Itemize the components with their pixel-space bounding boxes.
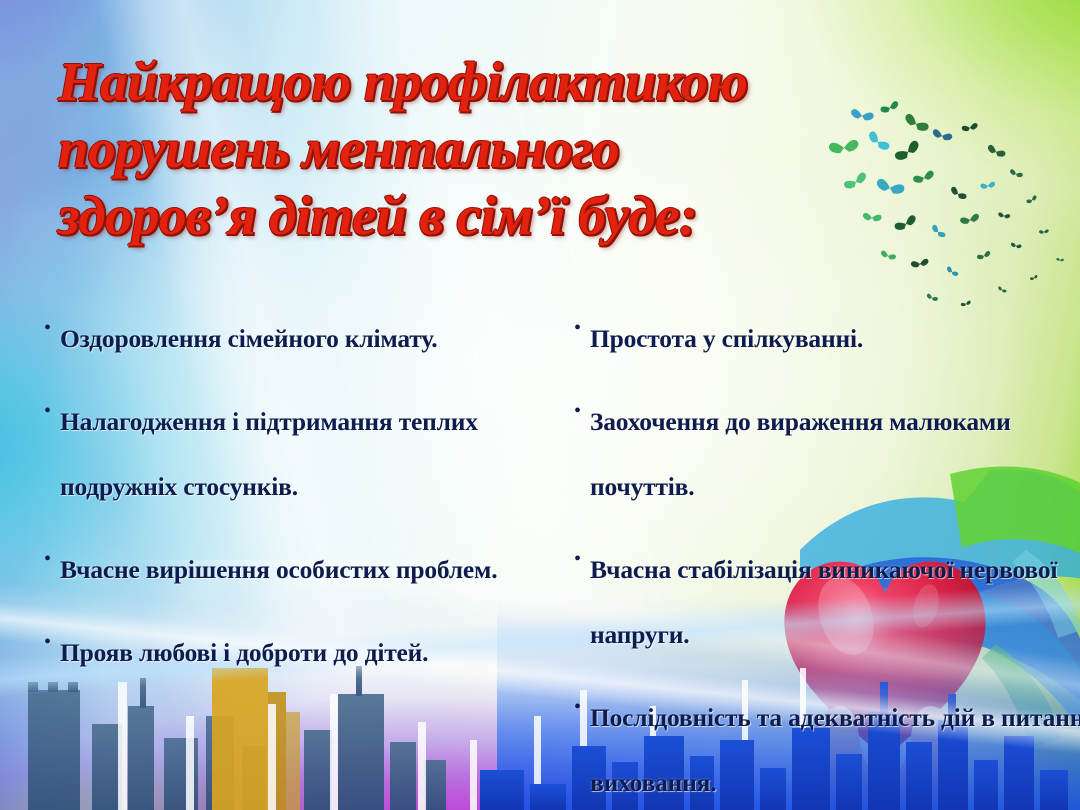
list-item-label: Оздоровлення сімейного клімату. <box>60 306 564 371</box>
list-item: • Заохочення до вираження малюками почут… <box>574 389 1080 519</box>
bullet-dot-icon: • <box>574 697 590 717</box>
bullet-dot-icon: • <box>574 549 590 569</box>
bullet-column-left: • Оздоровлення сімейного клімату. • Нала… <box>0 306 564 810</box>
list-item-label: Налагодження і підтримання теплих подруж… <box>60 389 564 519</box>
list-item-label: Послідовність та адекватність дій в пита… <box>590 685 1080 810</box>
list-item: • Послідовність та адекватність дій в пи… <box>574 685 1080 810</box>
poster-title: Найкращою профілактикою порушень менталь… <box>58 48 958 249</box>
list-item-label: Прояв любові і доброти до дітей. <box>60 620 564 685</box>
list-item: • Оздоровлення сімейного клімату. <box>44 306 564 371</box>
bullet-dot-icon: • <box>574 318 590 338</box>
list-item-label: Вчасна стабілізація виникаючої нервової … <box>590 537 1080 667</box>
poster-content: Найкращою профілактикою порушень менталь… <box>0 0 1080 810</box>
bullet-dot-icon: • <box>44 401 60 421</box>
list-item-label: Заохочення до вираження малюками почутті… <box>590 389 1080 519</box>
bullet-dot-icon: • <box>574 401 590 421</box>
list-item: • Простота у спілкуванні. <box>574 306 1080 371</box>
bullet-dot-icon: • <box>44 549 60 569</box>
list-item-label: Вчасне вирішення особистих проблем. <box>60 537 564 602</box>
bullet-dot-icon: • <box>44 318 60 338</box>
bullet-column-right: • Простота у спілкуванні. • Заохочення д… <box>564 306 1080 810</box>
list-item: • Налагодження і підтримання теплих подр… <box>44 389 564 519</box>
title-line-1: Найкращою профілактикою <box>58 48 958 115</box>
poster-canvas: Найкращою профілактикою порушень менталь… <box>0 0 1080 810</box>
title-line-2: порушень ментального <box>58 115 958 182</box>
list-item: • Прояв любові і доброти до дітей. <box>44 620 564 685</box>
list-item-label: Простота у спілкуванні. <box>590 306 1080 371</box>
bullet-columns: • Оздоровлення сімейного клімату. • Нала… <box>0 306 1080 810</box>
title-line-3: здоров’я дітей в сім’ї буде: <box>58 182 958 249</box>
bullet-dot-icon: • <box>44 632 60 652</box>
list-item: • Вчасна стабілізація виникаючої нервово… <box>574 537 1080 667</box>
list-item: • Вчасне вирішення особистих проблем. <box>44 537 564 602</box>
